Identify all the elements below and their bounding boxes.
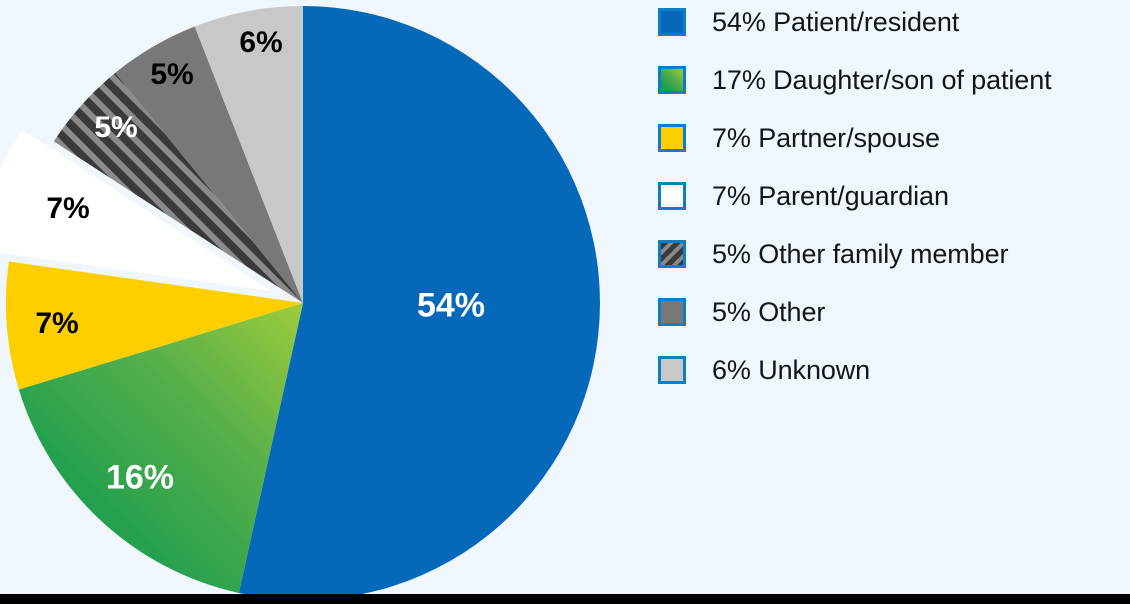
legend-label-other: 5% Other bbox=[712, 297, 825, 327]
legend-swatch-unknown bbox=[658, 356, 686, 384]
legend-item-other[interactable]: 5% Other bbox=[658, 290, 825, 334]
legend-label-patient-resident: 54% Patient/resident bbox=[712, 7, 959, 37]
bottom-black-bar bbox=[0, 594, 1130, 604]
legend-item-daughter-son[interactable]: 17% Daughter/son of patient bbox=[658, 58, 1052, 102]
pie-chart-svg bbox=[0, 0, 640, 604]
legend-item-patient-resident[interactable]: 54% Patient/resident bbox=[658, 0, 959, 44]
legend-swatch-other bbox=[658, 298, 686, 326]
legend-swatch-other-family-member bbox=[658, 240, 686, 268]
legend-item-partner-spouse[interactable]: 7% Partner/spouse bbox=[658, 116, 940, 160]
pie-chart-area: 54%16%7%7%5%5%6% bbox=[0, 0, 640, 604]
legend-label-partner-spouse: 7% Partner/spouse bbox=[712, 123, 940, 153]
pie-slices-group bbox=[0, 6, 600, 600]
legend-swatch-partner-spouse bbox=[658, 124, 686, 152]
legend-swatch-patient-resident bbox=[658, 8, 686, 36]
legend-item-parent-guardian[interactable]: 7% Parent/guardian bbox=[658, 174, 949, 218]
chart-legend: 54% Patient/resident 17% Daughter/son of… bbox=[658, 0, 1130, 400]
legend-label-parent-guardian: 7% Parent/guardian bbox=[712, 181, 949, 211]
legend-swatch-parent-guardian bbox=[658, 182, 686, 210]
pie-chart-page: 54%16%7%7%5%5%6% 54% Patient/resident 17… bbox=[0, 0, 1130, 604]
legend-label-daughter-son: 17% Daughter/son of patient bbox=[712, 65, 1052, 95]
legend-swatch-daughter-son bbox=[658, 66, 686, 94]
legend-label-unknown: 6% Unknown bbox=[712, 355, 870, 385]
legend-item-other-family-member[interactable]: 5% Other family member bbox=[658, 232, 1008, 276]
legend-label-other-family-member: 5% Other family member bbox=[712, 239, 1008, 269]
legend-item-unknown[interactable]: 6% Unknown bbox=[658, 348, 870, 392]
